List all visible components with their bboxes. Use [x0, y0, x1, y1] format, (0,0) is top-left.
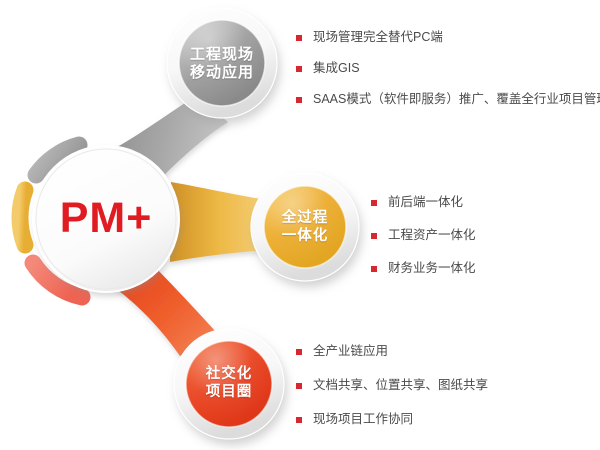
infographic-canvas: 工程现场 移动应用 全过程 一体化 社交化 项目圈 PM+ 现场管理完全替代PC…: [0, 0, 600, 450]
bullet-square-icon: [296, 349, 302, 355]
node-social[interactable]: [174, 329, 284, 439]
bullet-square-icon: [296, 417, 302, 423]
bullet-item: 现场项目工作协同: [296, 411, 488, 428]
bullet-text: 全产业链应用: [313, 343, 388, 360]
bullet-item: 文档共享、位置共享、图纸共享: [296, 377, 488, 394]
bullet-item: 集成GIS: [296, 60, 600, 77]
bullet-item: 财务业务一体化: [371, 260, 476, 277]
bullet-text: 财务业务一体化: [388, 260, 476, 277]
bullet-text: 文档共享、位置共享、图纸共享: [313, 377, 488, 394]
bullet-text: 工程资产一体化: [388, 227, 476, 244]
bullet-text: 前后端一体化: [388, 194, 463, 211]
bullet-text: SAAS模式（软件即服务）推广、覆盖全行业项目管理: [313, 91, 600, 108]
bullet-square-icon: [296, 383, 302, 389]
bullet-item: 现场管理完全替代PC端: [296, 29, 600, 46]
bullet-square-icon: [296, 66, 302, 72]
bullet-item: 工程资产一体化: [371, 227, 476, 244]
arc-gold: [20, 190, 25, 245]
bullet-square-icon: [296, 97, 302, 103]
bullet-group-process: 前后端一体化 工程资产一体化 财务业务一体化: [371, 194, 476, 293]
node-center[interactable]: [33, 146, 179, 292]
bullet-text: 集成GIS: [313, 60, 360, 77]
bullet-group-social: 全产业链应用 文档共享、位置共享、图纸共享 现场项目工作协同: [296, 343, 488, 445]
bullet-item: 前后端一体化: [371, 194, 476, 211]
bullet-square-icon: [371, 200, 377, 206]
bullet-text: 现场项目工作协同: [313, 411, 413, 428]
bullet-item: 全产业链应用: [296, 343, 488, 360]
bullet-group-mobile: 现场管理完全替代PC端 集成GIS SAAS模式（软件即服务）推广、覆盖全行业项…: [296, 29, 600, 122]
bullet-square-icon: [371, 233, 377, 239]
bullet-square-icon: [296, 35, 302, 41]
bullet-square-icon: [371, 266, 377, 272]
node-mobile[interactable]: [167, 8, 277, 118]
node-process[interactable]: [251, 173, 359, 281]
bullet-item: SAAS模式（软件即服务）推广、覆盖全行业项目管理: [296, 91, 600, 108]
bullet-text: 现场管理完全替代PC端: [313, 29, 443, 46]
